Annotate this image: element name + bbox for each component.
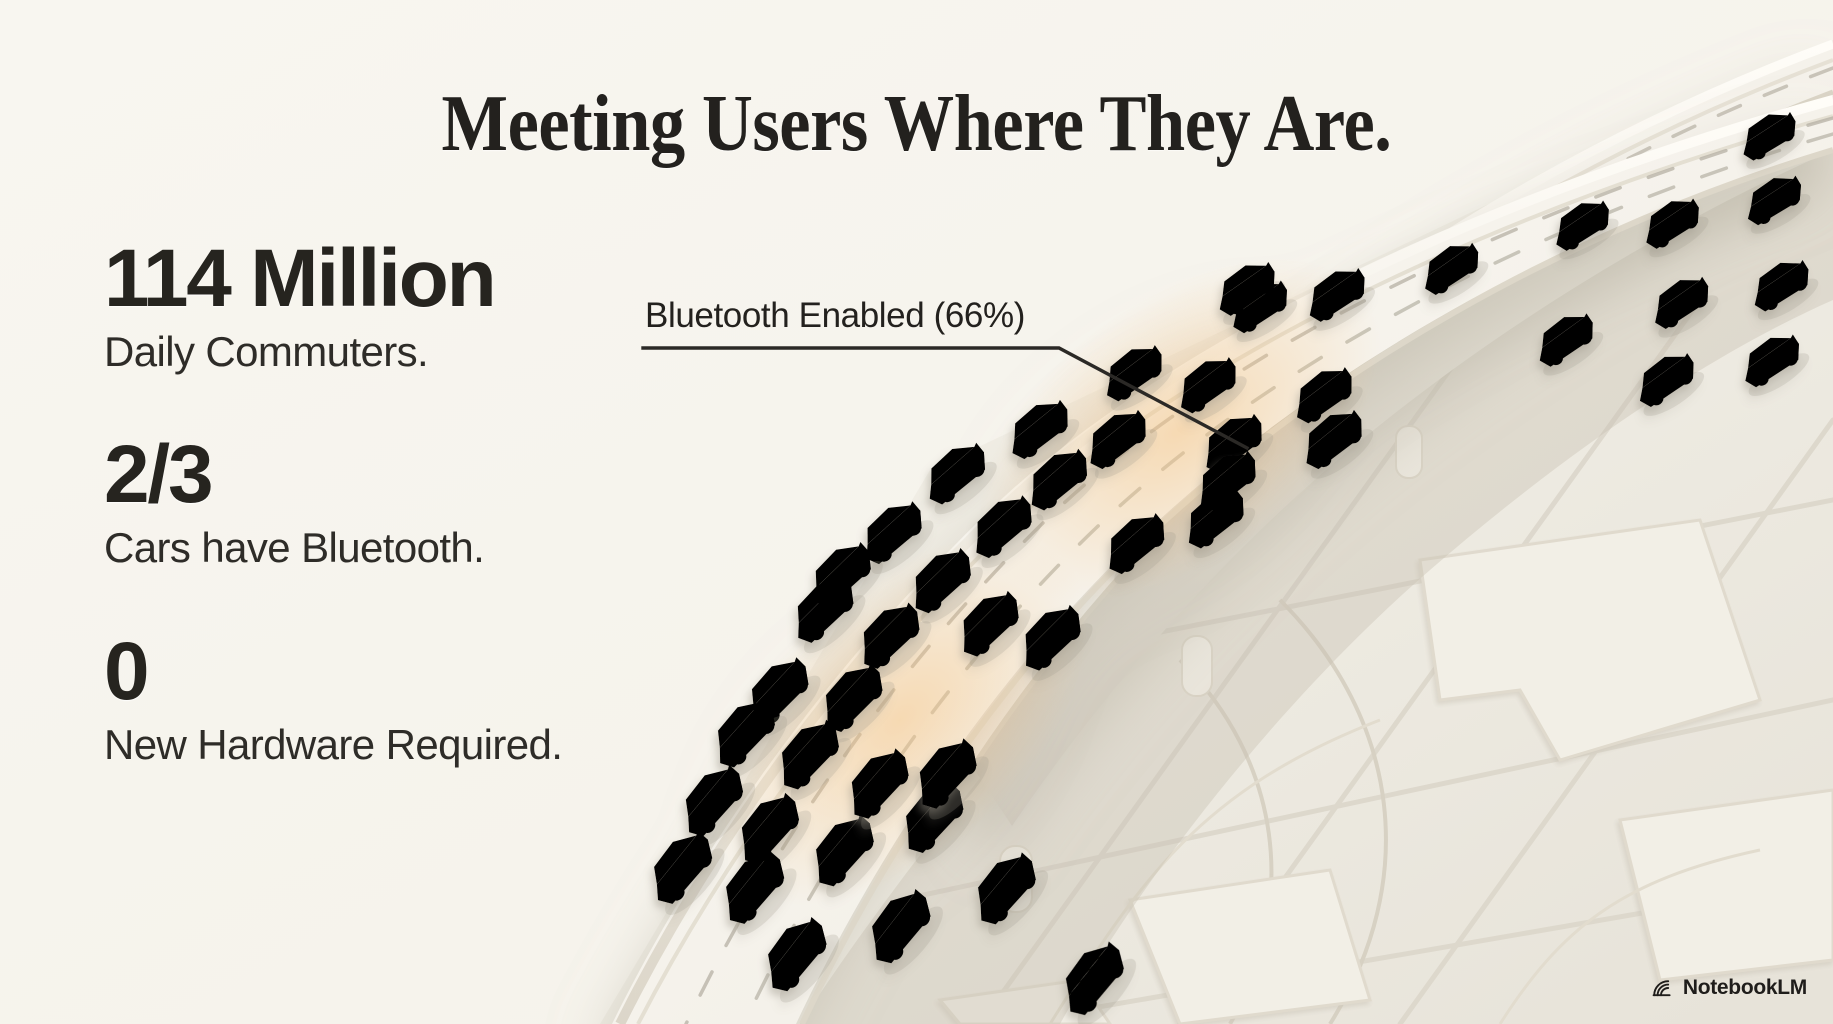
stats-list: 114 Million Daily Commuters. 2/3 Cars ha… [104, 238, 724, 769]
watermark-label: NotebookLM [1683, 976, 1807, 1000]
notebooklm-spiral-icon [1651, 976, 1675, 1000]
stat-item-new-hardware: 0 New Hardware Required. [104, 631, 724, 769]
stat-value: 0 [104, 631, 724, 713]
stat-item-commuters: 114 Million Daily Commuters. [104, 238, 724, 376]
slide-canvas: .car-orange .c-top { fill: url(#orgTop);… [0, 0, 1833, 1024]
stat-value: 114 Million [104, 238, 724, 320]
stat-label: Cars have Bluetooth. [104, 524, 724, 572]
page-title: Meeting Users Where They Are. [110, 82, 1723, 166]
stat-value: 2/3 [104, 434, 724, 516]
stat-label: New Hardware Required. [104, 721, 724, 769]
stat-item-bluetooth-share: 2/3 Cars have Bluetooth. [104, 434, 724, 572]
callout-leader-line [641, 342, 1261, 454]
notebooklm-watermark: NotebookLM [1651, 976, 1807, 1000]
stat-label: Daily Commuters. [104, 328, 724, 376]
callout-label: Bluetooth Enabled (66%) [641, 296, 1261, 336]
bluetooth-callout: Bluetooth Enabled (66%) [641, 296, 1261, 454]
